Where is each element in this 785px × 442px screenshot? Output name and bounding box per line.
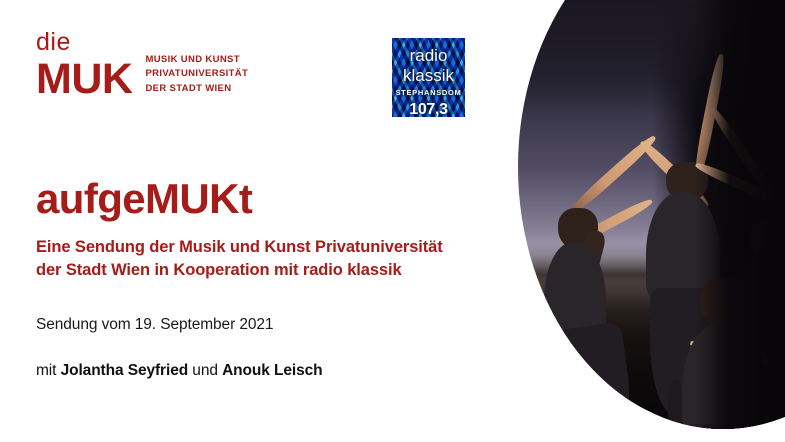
radio-klassik-line-klassik: klassik	[392, 67, 465, 84]
subtitle: Eine Sendung der Musik und Kunst Privatu…	[36, 236, 443, 283]
muk-logo-tagline: MUSIK UND KUNST PRIVATUNIVERSITÄT DER ST…	[145, 53, 248, 96]
radio-klassik-logo[interactable]: radio klassik STEPHANSDOM 107,3	[392, 38, 465, 117]
dancer-figure	[522, 104, 632, 442]
credits-person-two: Anouk Leisch	[222, 362, 322, 379]
page-title: aufgeMUKt	[36, 178, 252, 220]
radio-klassik-frequency: 107,3	[392, 101, 465, 117]
radio-klassik-line-stephansdom: STEPHANSDOM	[392, 88, 465, 97]
promo-banner: die MUK MUSIK UND KUNST PRIVATUNIVERSITÄ…	[0, 0, 785, 442]
subtitle-line-1: Eine Sendung der Musik und Kunst Privatu…	[36, 236, 443, 259]
muk-logo-acronym: MUK	[36, 60, 132, 100]
radio-klassik-wordmark: radio klassik STEPHANSDOM 107,3	[392, 38, 465, 117]
credits-prefix: mit	[36, 362, 61, 379]
muk-tagline-line-3: DER STADT WIEN	[145, 82, 248, 96]
muk-logo-row: MUK MUSIK UND KUNST PRIVATUNIVERSITÄT DE…	[36, 53, 248, 99]
muk-tagline-line-1: MUSIK UND KUNST	[145, 53, 248, 67]
subtitle-line-2: der Stadt Wien in Kooperation mit radio …	[36, 259, 443, 282]
photo-ellipse-clip	[470, 0, 785, 442]
radio-klassik-line-radio: radio	[392, 47, 465, 64]
dancer-leg	[758, 432, 772, 442]
credits-line: mit Jolantha Seyfried und Anouk Leisch	[36, 362, 323, 380]
credits-person-one: Jolantha Seyfried	[61, 362, 189, 379]
muk-tagline-line-2: PRIVATUNIVERSITÄT	[145, 67, 248, 81]
dancers-photo	[470, 0, 785, 442]
credits-conjunction: und	[188, 362, 222, 379]
muk-logo[interactable]: die MUK MUSIK UND KUNST PRIVATUNIVERSITÄ…	[36, 30, 248, 99]
broadcast-date: Sendung vom 19. September 2021	[36, 316, 273, 334]
dancer-lower	[517, 321, 638, 442]
muk-logo-die: die	[36, 30, 248, 55]
stage-side-curtain	[695, 0, 785, 442]
